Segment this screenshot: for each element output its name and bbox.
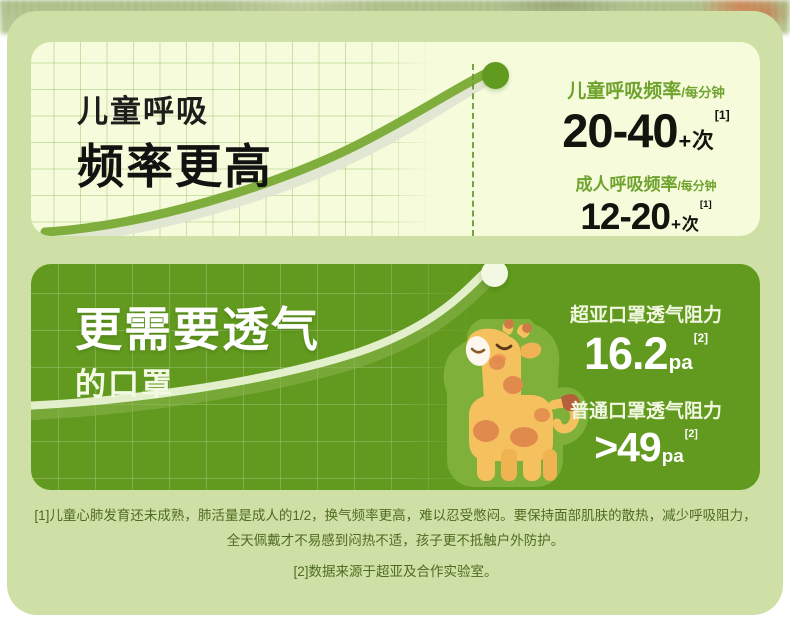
stat-number: >49 [594, 427, 661, 468]
stat-label: 普通口罩透气阻力 [521, 402, 760, 423]
footnote-1: [1]儿童心肺发育还未成熟，肺活量是成人的1/2，换气频率更高，难以忍受憋闷。要… [31, 504, 760, 554]
stat-plus: + [671, 216, 681, 235]
stat-adult-breathing-rate: 成人呼吸频率/每分钟 12-20+次[1] [521, 176, 760, 235]
stat-unit: 次 [682, 216, 699, 235]
stat-value: 20-40+次[1] [521, 107, 760, 154]
stat-value: 16.2pa[2] [521, 331, 760, 376]
stat-unit: pa [662, 447, 684, 468]
stat-value: 12-20+次[1] [521, 198, 760, 235]
content-panel: 儿童呼吸 频率更高 儿童呼吸频率/每分钟 20-40+次[1] 成人呼吸频率/每… [7, 11, 783, 615]
stat-unit: 次 [692, 130, 714, 154]
footnote-ref: [1] [700, 200, 712, 210]
stat-number: 16.2 [584, 331, 668, 376]
stat-label: 儿童呼吸频率/每分钟 [521, 82, 760, 103]
stat-regular-mask-resistance: 普通口罩透气阻力 >49pa[2] [521, 402, 760, 468]
white-endpoint-marker [481, 264, 508, 287]
stat-label-main: 成人呼吸频率 [576, 175, 678, 194]
stat-label: 超亚口罩透气阻力 [521, 306, 760, 327]
stat-label-main: 超亚口罩透气阻力 [570, 305, 722, 326]
bottom-card-headline: 更需要透气 的口罩 [75, 306, 320, 400]
footnotes-block: [1]儿童心肺发育还未成熟，肺活量是成人的1/2，换气频率更高，难以忍受憋闷。要… [31, 504, 760, 585]
footnote-ref: [2] [694, 333, 708, 345]
footnote-2: [2]数据来源于超亚及合作实验室。 [31, 560, 760, 585]
dashed-drop-line [472, 64, 474, 236]
headline-line-1: 更需要透气 [75, 306, 320, 353]
headline-line-1: 儿童呼吸 [77, 96, 273, 127]
stat-label-sub: /每分钟 [678, 179, 717, 193]
stat-number: 20-40 [562, 107, 677, 154]
stat-label: 成人呼吸频率/每分钟 [521, 176, 760, 195]
infographic-root: 儿童呼吸 频率更高 儿童呼吸频率/每分钟 20-40+次[1] 成人呼吸频率/每… [0, 0, 790, 630]
bottom-card-stats: 超亚口罩透气阻力 16.2pa[2] 普通口罩透气阻力 >49pa[2] [521, 306, 760, 468]
children-breathing-rate-card: 儿童呼吸 频率更高 儿童呼吸频率/每分钟 20-40+次[1] 成人呼吸频率/每… [31, 42, 760, 236]
stat-label-main: 普通口罩透气阻力 [570, 401, 722, 422]
stat-chaoya-mask-resistance: 超亚口罩透气阻力 16.2pa[2] [521, 306, 760, 376]
footnote-ref: [2] [685, 429, 698, 440]
stat-label-sub: /每分钟 [681, 85, 725, 100]
footnote-ref: [1] [715, 109, 730, 121]
stat-number: 12-20 [580, 198, 670, 235]
stat-value: >49pa[2] [521, 427, 760, 468]
headline-line-2: 频率更高 [77, 143, 273, 190]
top-card-stats: 儿童呼吸频率/每分钟 20-40+次[1] 成人呼吸频率/每分钟 12-20+次… [521, 82, 760, 235]
breathable-mask-card: 更需要透气 的口罩 [31, 264, 760, 490]
stat-label-main: 儿童呼吸频率 [567, 81, 681, 102]
stat-unit: pa [669, 353, 693, 376]
stat-plus: + [679, 130, 692, 154]
top-card-headline: 儿童呼吸 频率更高 [77, 96, 273, 190]
stat-children-breathing-rate: 儿童呼吸频率/每分钟 20-40+次[1] [521, 82, 760, 154]
headline-line-2: 的口罩 [75, 369, 320, 400]
green-endpoint-marker [482, 62, 509, 89]
